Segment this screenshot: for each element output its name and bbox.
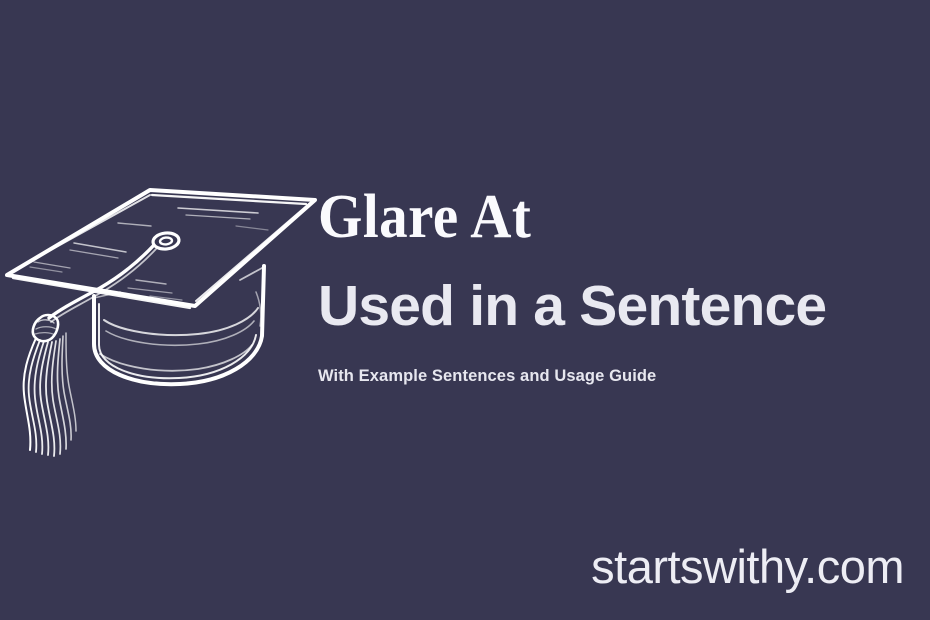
hero-text-block: Glare At Used in a Sentence With Example… xyxy=(318,186,918,385)
page-headline: Used in a Sentence xyxy=(318,248,918,335)
page-title: Glare At xyxy=(318,186,870,248)
social-share-card: Glare At Used in a Sentence With Example… xyxy=(0,0,930,620)
graduation-cap-icon xyxy=(0,168,320,458)
site-domain: startswithy.com xyxy=(591,543,904,590)
page-tagline: With Example Sentences and Usage Guide xyxy=(318,335,918,385)
